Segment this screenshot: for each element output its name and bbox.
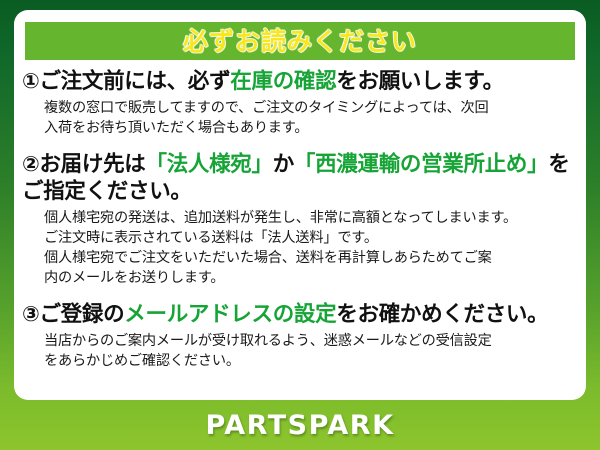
item-1-heading-post: をお願いします。 (336, 69, 503, 94)
notice-banner-root: 必ずお読みください ①ご注文前には、必ず在庫の確認をお願いします。 複数の窓口で… (0, 0, 600, 450)
footer-bar: PARTSPARK (0, 400, 600, 450)
notice-card: 必ずお読みください ①ご注文前には、必ず在庫の確認をお願いします。 複数の窓口で… (14, 10, 586, 400)
notice-item-list: ①ご注文前には、必ず在庫の確認をお願いします。 複数の窓口で販売してますので、ご… (14, 68, 586, 371)
notice-item-2: ②お届け先は「法人様宛」か「西濃運輸の営業所止め」をご指定ください。 個人様宅宛… (14, 151, 586, 289)
header-title: 必ずお読みください (183, 29, 417, 54)
item-2-heading-pre: お届け先は (39, 152, 145, 177)
item-1-heading-pre: ご注文前には、必ず (39, 69, 230, 94)
item-3-heading-highlight: メールアドレスの設定 (124, 302, 336, 327)
notice-item-2-heading: ②お届け先は「法人様宛」か「西濃運輸の営業所止め」をご指定ください。 (22, 151, 578, 206)
item-2-heading-highlight: 「法人様宛」 (146, 152, 273, 177)
item-1-heading-highlight: 在庫の確認 (230, 69, 336, 94)
item-marker-3: ③ (22, 302, 39, 326)
item-3-heading-post: をお確かめください。 (336, 302, 548, 327)
brand-name: PARTSPARK (205, 412, 394, 439)
item-2-heading-mid: か (273, 152, 294, 177)
notice-item-1-heading: ①ご注文前には、必ず在庫の確認をお願いします。 (22, 68, 578, 96)
item-2-heading-highlight2: 「西濃運輸の営業所止め」 (294, 152, 548, 177)
item-3-heading-pre: ご登録の (39, 302, 124, 327)
notice-item-2-body: 個人様宅宛の発送は、追加送料が発生し、非常に高額となってしまいます。 ご注文時に… (44, 208, 578, 289)
notice-item-3: ③ご登録のメールアドレスの設定をお確かめください。 当店からのご案内メールが受け… (14, 301, 586, 371)
item-marker-2: ② (22, 152, 39, 176)
notice-item-1-body: 複数の窓口で販売してますので、ご注文のタイミングによっては、次回 入荷をお待ち頂… (44, 98, 578, 138)
header-banner: 必ずお読みください (25, 22, 575, 60)
item-marker-1: ① (22, 69, 39, 93)
notice-item-3-heading: ③ご登録のメールアドレスの設定をお確かめください。 (22, 301, 578, 329)
notice-item-1: ①ご注文前には、必ず在庫の確認をお願いします。 複数の窓口で販売してますので、ご… (14, 68, 586, 138)
notice-item-3-body: 当店からのご案内メールが受け取れるよう、迷惑メールなどの受信設定 をあらかじめご… (44, 331, 578, 371)
